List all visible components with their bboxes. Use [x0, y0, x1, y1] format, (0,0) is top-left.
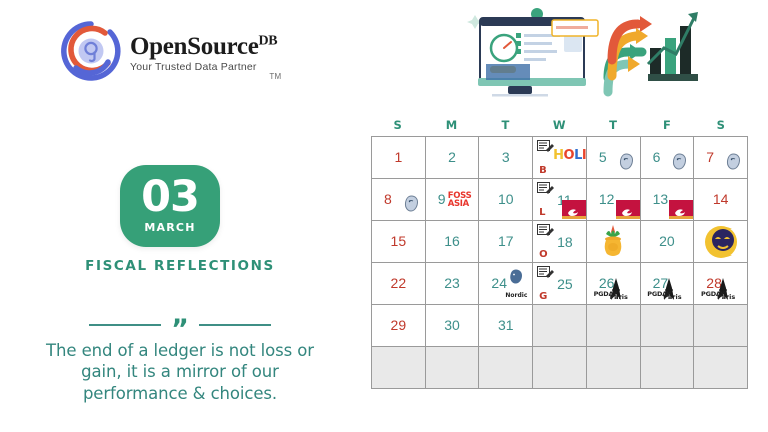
day-number: 1	[394, 149, 402, 165]
day-number: 23	[444, 275, 460, 291]
blog-note-icon	[537, 266, 554, 279]
holi-festival-icon: HOLI	[553, 148, 586, 163]
calendar-cell-empty	[372, 347, 426, 389]
day-number: 16	[444, 233, 460, 249]
calendar-cell-empty	[426, 347, 480, 389]
day-number: 8	[384, 191, 392, 207]
blog-letter: O	[539, 249, 548, 260]
day-number: 29	[391, 317, 407, 333]
postgres-elephant-icon	[619, 153, 634, 170]
calendar-day-cell[interactable]: 5	[587, 137, 641, 179]
kalash-festival-icon	[600, 224, 626, 258]
ramadan-moon-icon	[704, 223, 738, 259]
calendar-cell-empty	[479, 347, 533, 389]
day-number: 5	[599, 149, 607, 165]
day-number: 30	[444, 317, 460, 333]
calendar-day-cell[interactable]: 11L	[533, 179, 587, 221]
blog-note-icon	[537, 224, 554, 237]
calendar-cell-empty	[587, 347, 641, 389]
pgconf-logo-icon	[616, 200, 640, 219]
blog-note-icon	[537, 140, 554, 153]
calendar-day-cell[interactable]: 20	[641, 221, 695, 263]
calendar-day-cell[interactable]: 15	[372, 221, 426, 263]
calendar-day-cell[interactable]: 29	[372, 305, 426, 347]
blog-letter: B	[539, 165, 547, 176]
weekday-sat: S	[694, 118, 748, 132]
day-number: 20	[659, 233, 675, 249]
pgconf-logo-icon	[669, 200, 693, 219]
paris-label: Paris	[663, 293, 681, 301]
calendar-day-cell[interactable]: 9FOSSASIA	[426, 179, 480, 221]
calendar-day-cell[interactable]	[694, 221, 748, 263]
calendar-weekday-header: S M T W T F S	[371, 118, 748, 132]
quote-divider: ”	[12, 318, 348, 332]
weekday-mon: M	[425, 118, 479, 132]
calendar-day-cell[interactable]: 6	[641, 137, 695, 179]
weekday-wed: W	[533, 118, 587, 132]
weekday-sun: S	[371, 118, 425, 132]
calendar-cell-empty	[533, 347, 587, 389]
day-number: 10	[498, 191, 514, 207]
analytics-growth-illustration-icon	[452, 2, 702, 104]
calendar-day-cell[interactable]: 26PGDAYParis	[587, 263, 641, 305]
day-number: 13	[653, 191, 669, 207]
day-number: 26	[599, 275, 615, 291]
calendar-day-cell[interactable]: 7	[694, 137, 748, 179]
trademark-mark: TM	[269, 72, 281, 81]
calendar-cell-empty	[694, 347, 748, 389]
month-badge: 03 MARCH	[120, 165, 220, 247]
brand-logo: OpenSourceDB Your Trusted Data Partner T…	[58, 18, 277, 84]
day-number: 11	[557, 192, 572, 208]
divider-line-left	[89, 324, 161, 326]
calendar-day-cell[interactable]: 1	[372, 137, 426, 179]
calendar-day-cell[interactable]: 3	[479, 137, 533, 179]
brand-name: OpenSourceDB	[130, 34, 277, 59]
day-number: 18	[557, 234, 573, 250]
nordic-label: NordicPGDay	[505, 292, 527, 305]
calendar-day-cell[interactable]: 27PGDAYParis	[641, 263, 695, 305]
day-number: 17	[498, 233, 514, 249]
day-number: 28	[706, 275, 722, 291]
day-number: 2	[448, 149, 456, 165]
day-number: 25	[557, 276, 573, 292]
pgday-label: PGDAY	[647, 290, 671, 298]
circular-arc-logo-icon	[58, 18, 124, 84]
month-name: MARCH	[144, 221, 195, 234]
day-number: 7	[706, 149, 714, 165]
brand-text: OpenSourceDB Your Trusted Data Partner T…	[130, 30, 277, 73]
day-number: 12	[599, 191, 615, 207]
day-number: 14	[713, 191, 729, 207]
calendar-day-cell[interactable]: 18O	[533, 221, 587, 263]
calendar-day-cell[interactable]: 16	[426, 221, 480, 263]
postgres-elephant-icon	[726, 153, 741, 170]
blog-letter: L	[539, 207, 545, 218]
month-number: 03	[141, 178, 199, 218]
postgres-elephant-icon	[672, 153, 687, 170]
calendar-day-cell[interactable]: 30	[426, 305, 480, 347]
quote-block: ” The end of a ledger is not loss or gai…	[12, 318, 348, 405]
postgres-elephant-icon	[404, 195, 419, 212]
calendar-day-cell[interactable]: 17	[479, 221, 533, 263]
day-number: 27	[653, 275, 669, 291]
brand-tagline: Your Trusted Data Partner TM	[130, 61, 277, 73]
quote-mark-icon: ”	[171, 323, 189, 337]
fossasia-logo-icon: FOSSASIA	[448, 192, 472, 208]
weekday-thu: T	[586, 118, 640, 132]
day-number: 9	[438, 191, 446, 207]
calendar-day-cell[interactable]: 31	[479, 305, 533, 347]
day-number: 6	[653, 149, 661, 165]
calendar-day-cell[interactable]: 2	[426, 137, 480, 179]
paris-label: Paris	[717, 293, 735, 301]
paris-label: Paris	[610, 293, 628, 301]
calendar-cell-empty	[533, 305, 587, 347]
day-number: 31	[498, 317, 514, 333]
calendar-day-cell[interactable]: 14	[694, 179, 748, 221]
calendar-day-cell[interactable]: 12	[587, 179, 641, 221]
calendar-cell-empty	[694, 305, 748, 347]
brand-name-suffix: DB	[259, 33, 278, 48]
calendar-day-cell[interactable]: 10	[479, 179, 533, 221]
calendar-day-cell[interactable]: BHOLI	[533, 137, 587, 179]
blog-letter: G	[539, 291, 547, 302]
day-number: 24	[491, 275, 507, 291]
pgday-label: PGDAY	[701, 290, 725, 298]
calendar-day-cell[interactable]: 8	[372, 179, 426, 221]
calendar-day-cell[interactable]: 22	[372, 263, 426, 305]
calendar-cell-empty	[587, 305, 641, 347]
calendar-day-cell[interactable]: 28PGDAYParis	[694, 263, 748, 305]
calendar-day-cell[interactable]: 23	[426, 263, 480, 305]
calendar-poster: OpenSourceDB Your Trusted Data Partner T…	[0, 0, 768, 432]
calendar: S M T W T F S 123BHOLI56789FOSSASIA1011L…	[371, 118, 748, 389]
divider-line-right	[199, 324, 271, 326]
day-number: 3	[502, 149, 510, 165]
pgday-label: PGDAY	[594, 290, 618, 298]
calendar-day-cell[interactable]	[587, 221, 641, 263]
day-number: 22	[391, 275, 407, 291]
blog-note-icon	[537, 182, 554, 195]
calendar-day-cell[interactable]: 13	[641, 179, 695, 221]
calendar-cell-empty	[641, 305, 695, 347]
left-panel: OpenSourceDB Your Trusted Data Partner T…	[0, 0, 360, 432]
brand-name-main: OpenSource	[130, 33, 259, 60]
calendar-day-cell[interactable]: 25G	[533, 263, 587, 305]
weekday-fri: F	[640, 118, 694, 132]
quote-text: The end of a ledger is not loss or gain,…	[12, 340, 348, 405]
weekday-tue: T	[479, 118, 533, 132]
calendar-day-cell[interactable]: 24NordicPGDay	[479, 263, 533, 305]
calendar-cell-empty	[641, 347, 695, 389]
day-number: 15	[391, 233, 407, 249]
calendar-grid: 123BHOLI56789FOSSASIA1011L12131415161718…	[371, 136, 748, 389]
theme-title: FISCAL REFLECTIONS	[0, 258, 360, 274]
